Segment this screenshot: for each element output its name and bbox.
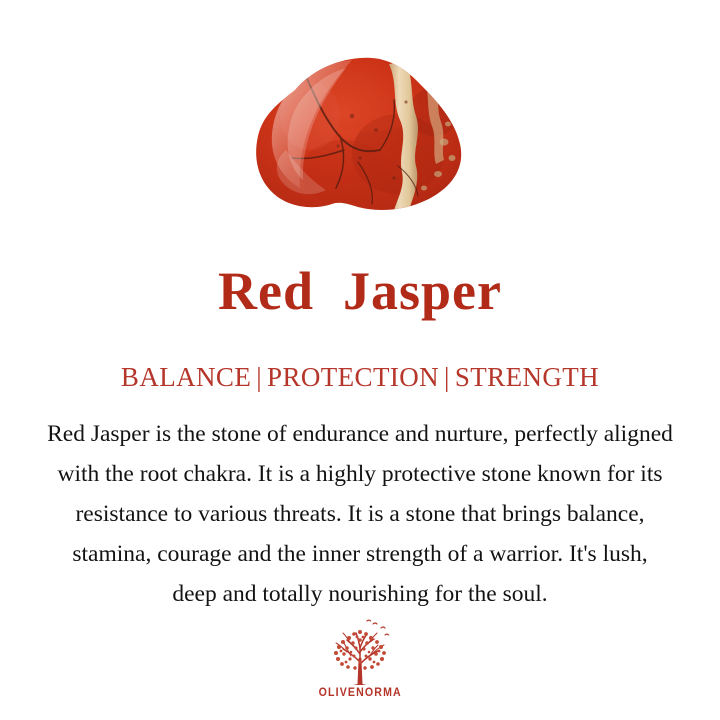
tree-icon bbox=[321, 618, 399, 686]
red-jasper-stone-illustration bbox=[248, 54, 472, 226]
description-line: deep and totally nourishing for the soul… bbox=[0, 574, 720, 614]
brand-logo: OLIVENORMA bbox=[0, 618, 720, 699]
page-title: Red Jasper bbox=[0, 262, 720, 320]
stone-body bbox=[248, 54, 472, 226]
description-line: stamina, courage and the inner strength … bbox=[0, 534, 720, 574]
keyword-separator: | bbox=[251, 361, 267, 393]
description-line: Red Jasper is the stone of endurance and… bbox=[0, 414, 720, 454]
keyword-strength: STRENGTH bbox=[455, 362, 599, 392]
keyword-balance: BALANCE bbox=[121, 362, 251, 392]
brand-wordmark: OLIVENORMA bbox=[318, 687, 401, 699]
red-jasper-info-card: Red Jasper BALANCE|PROTECTION|STRENGTH R… bbox=[0, 0, 720, 720]
keyword-separator: | bbox=[439, 361, 455, 393]
stone-image bbox=[0, 50, 720, 230]
description-line: resistance to various threats. It is a s… bbox=[0, 494, 720, 534]
keyword-line: BALANCE|PROTECTION|STRENGTH bbox=[0, 361, 720, 393]
description-paragraph: Red Jasper is the stone of endurance and… bbox=[0, 414, 720, 614]
birds-icon bbox=[367, 620, 389, 635]
description-line: with the root chakra. It is a highly pro… bbox=[0, 454, 720, 494]
keyword-protection: PROTECTION bbox=[267, 362, 439, 392]
